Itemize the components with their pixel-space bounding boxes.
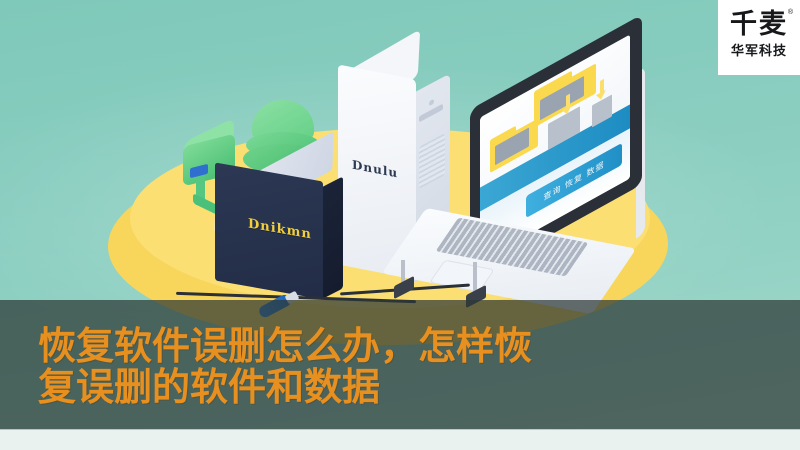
screenshot-canvas: Dnulu 查询 恢复 数据 Dnikmn (0, 0, 800, 450)
brand-logo-sub-text: 华军科技 (718, 44, 800, 59)
page-title: 恢复软件误删怎么办，怎样恢 复误删的软件和数据 (38, 326, 688, 408)
headline-line-1: 恢复软件误删怎么办，怎样恢 (38, 326, 688, 367)
nas-side-face (321, 176, 343, 299)
trademark-icon: ® (788, 9, 793, 16)
brand-logo: 千麦 ® 华军科技 (718, 0, 800, 75)
bottom-strip (0, 430, 800, 450)
headline-line-2: 复误删的软件和数据 (38, 367, 688, 408)
